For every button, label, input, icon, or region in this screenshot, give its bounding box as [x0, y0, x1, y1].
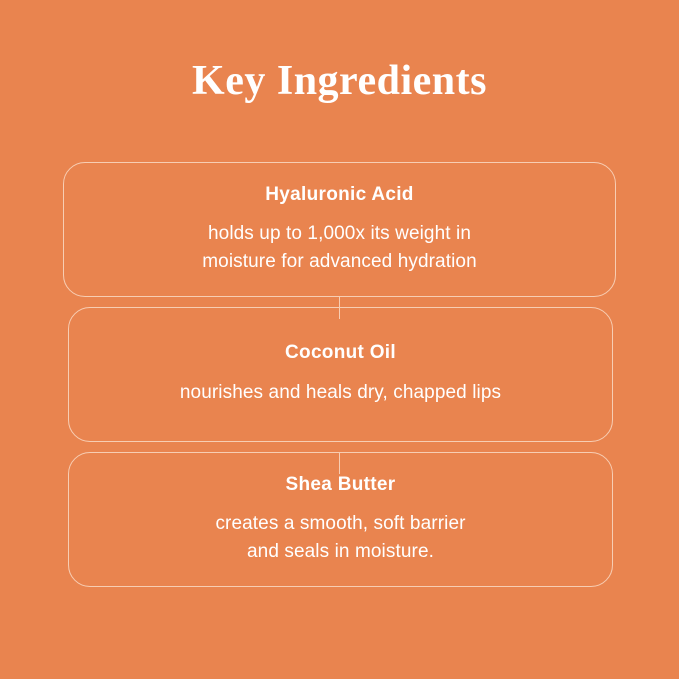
card-connector-line [339, 297, 340, 319]
ingredient-card-shea-butter: Shea Butter creates a smooth, soft barri… [68, 452, 613, 587]
page-title: Key Ingredients [0, 58, 679, 104]
ingredient-name: Shea Butter [286, 474, 396, 497]
ingredient-card-coconut-oil: Coconut Oil nourishes and heals dry, cha… [68, 307, 613, 442]
card-connector-line [339, 452, 340, 474]
ingredient-name: Coconut Oil [285, 342, 396, 365]
ingredient-description: nourishes and heals dry, chapped lips [180, 379, 501, 407]
ingredient-name: Hyaluronic Acid [265, 184, 413, 207]
ingredient-description: creates a smooth, soft barrier and seals… [215, 510, 465, 565]
ingredient-description: holds up to 1,000x its weight in moistur… [202, 220, 477, 275]
ingredients-infographic: Key Ingredients Hyaluronic Acid holds up… [0, 0, 679, 679]
ingredient-card-hyaluronic-acid: Hyaluronic Acid holds up to 1,000x its w… [63, 162, 616, 297]
ingredient-card-list: Hyaluronic Acid holds up to 1,000x its w… [0, 162, 679, 587]
